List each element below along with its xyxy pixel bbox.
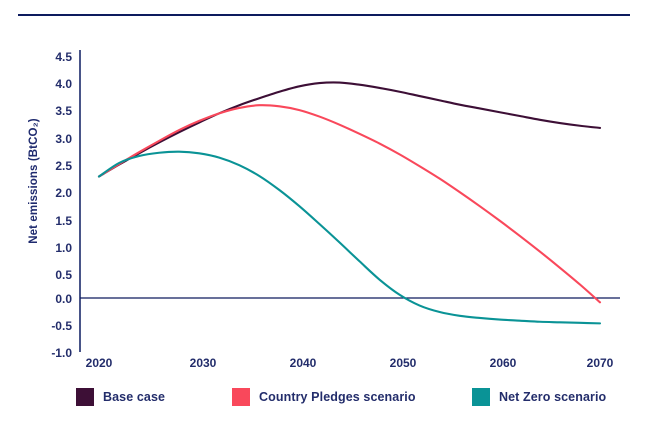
chart-page: Net emissions (BtCO₂) 4.5 4.0 3.5 3.0 2.… [0,0,646,422]
series-group [99,82,600,323]
legend-swatch-icon [232,388,250,406]
legend-label: Country Pledges scenario [259,390,416,404]
legend-swatch-icon [472,388,490,406]
legend-item-net-zero[interactable]: Net Zero scenario [472,388,606,406]
chart-plot-area: Net emissions (BtCO₂) 4.5 4.0 3.5 3.0 2.… [0,0,646,380]
legend-item-base-case[interactable]: Base case [76,388,165,406]
legend-item-country-pledges[interactable]: Country Pledges scenario [232,388,416,406]
legend-swatch-icon [76,388,94,406]
chart-legend: Base case Country Pledges scenario Net Z… [0,386,646,412]
chart-canvas [0,0,646,380]
legend-label: Base case [103,390,165,404]
legend-label: Net Zero scenario [499,390,606,404]
